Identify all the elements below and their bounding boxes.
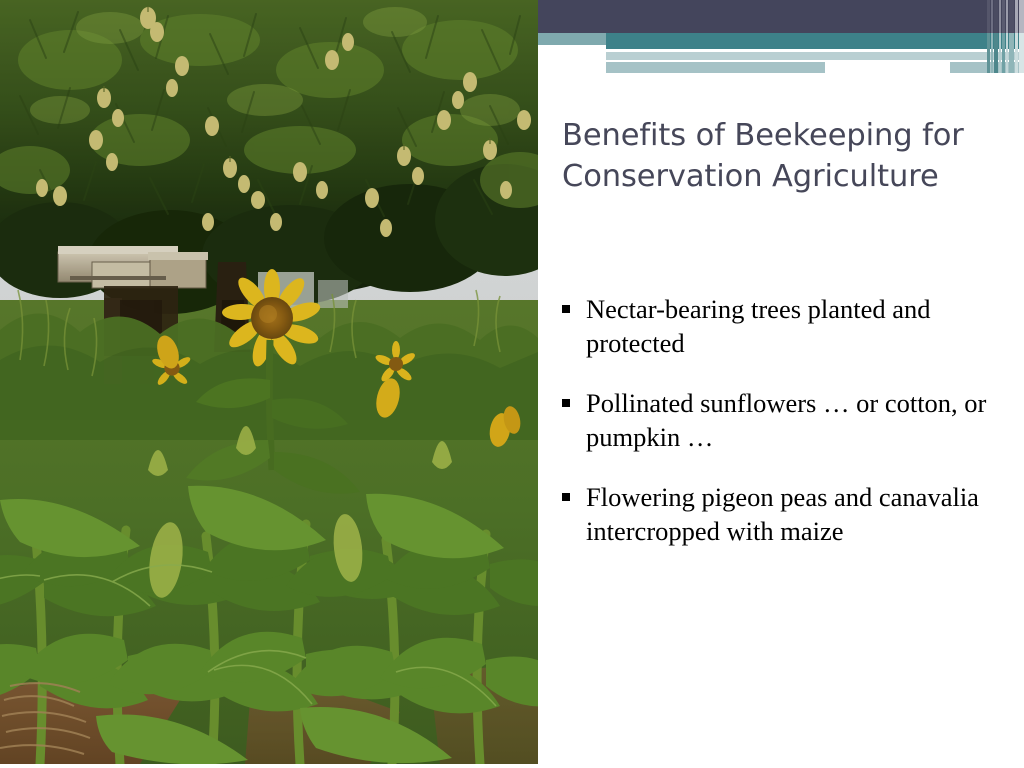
page-title: Benefits of Beekeeping for Conservation … [562,115,994,197]
list-item-label: Flowering pigeon peas and canavalia inte… [586,481,1002,548]
header-pale-band-upper [606,52,1024,60]
header-teal-band [538,33,1024,49]
square-bullet-icon [562,399,570,407]
list-item: Flowering pigeon peas and canavalia inte… [562,481,1002,548]
beekeeping-conservation-agriculture-photo [0,0,538,764]
list-item-label: Pollinated sunflowers … or cotton, or pu… [586,387,1002,454]
header-band-notch [825,62,950,73]
header-vertical-stripe [999,0,1001,73]
header-vertical-stripe [1002,0,1005,73]
header-vertical-stripe [987,0,990,73]
list-item-label: Nectar-bearing trees planted and protect… [586,293,1002,360]
bullet-list: Nectar-bearing trees planted and protect… [562,293,1002,548]
header-vertical-stripe [1006,0,1008,73]
list-item: Pollinated sunflowers … or cotton, or pu… [562,387,1002,454]
header-vertical-stripe [1009,0,1014,73]
content-panel: Benefits of Beekeeping for Conservation … [538,73,1024,768]
header-dark-band [538,0,1024,33]
square-bullet-icon [562,493,570,501]
header-vertical-stripe [1019,0,1024,73]
square-bullet-icon [562,305,570,313]
header-left-white-step [538,45,606,73]
header-vertical-stripe [991,0,993,73]
header-vertical-stripe [1015,0,1018,73]
list-item: Nectar-bearing trees planted and protect… [562,293,1002,360]
slide: Benefits of Beekeeping for Conservation … [0,0,1024,768]
header-vertical-stripe [994,0,998,73]
header-teal-step [538,33,606,45]
